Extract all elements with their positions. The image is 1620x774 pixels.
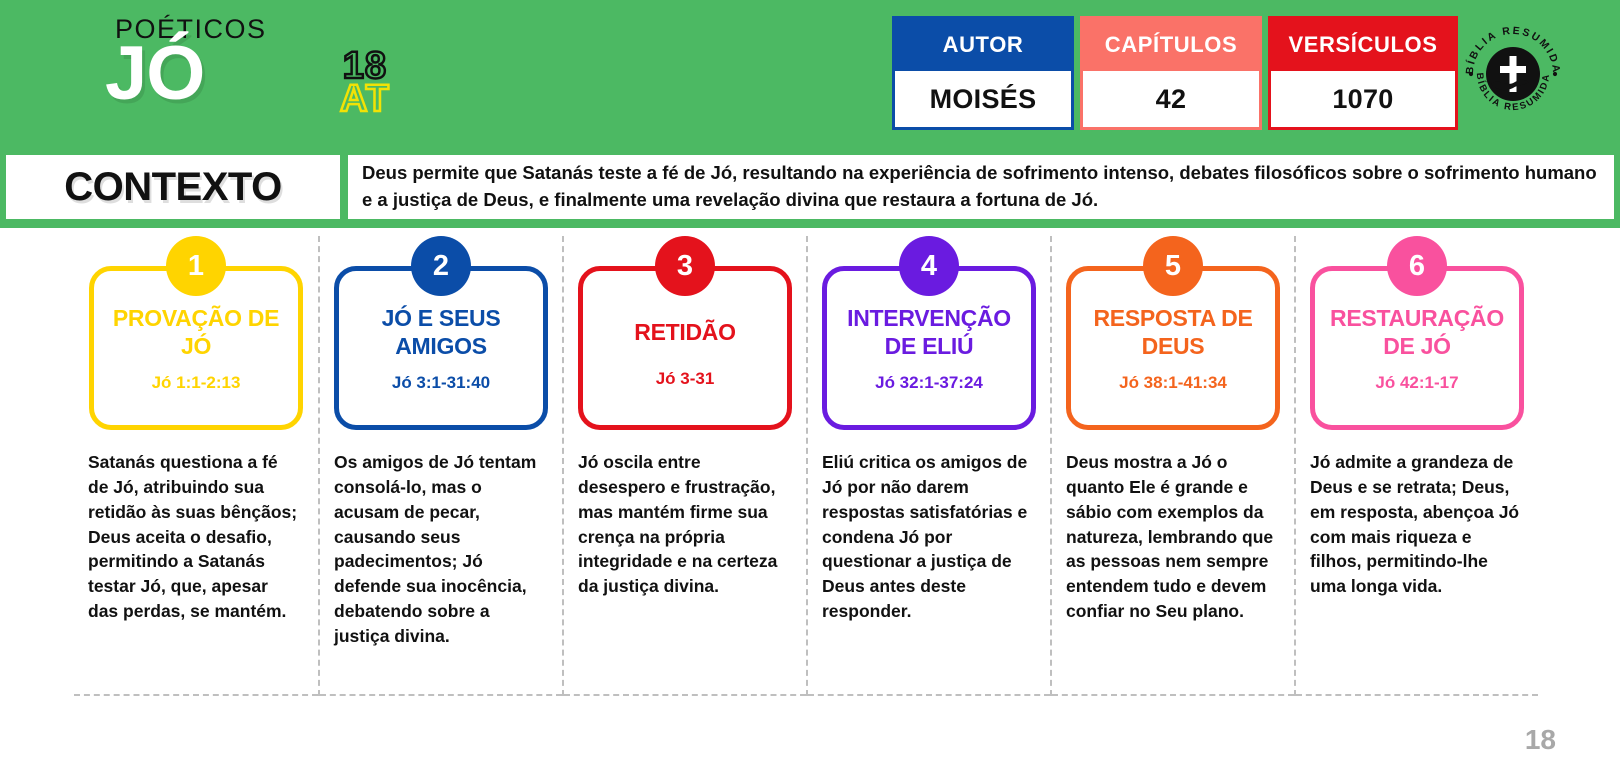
stat-autor-value: MOISÉS [895,71,1071,127]
column-bottom-divider [74,694,318,696]
sections-row: 1 PROVAÇÃO DE JÓ Jó 1:1-2:13 Satanás que… [74,236,1546,696]
section-reference-2: Jó 3:1-31:40 [392,373,490,393]
section-card-zone-5: 5 RESPOSTA DE DEUS Jó 38:1-41:34 [1052,236,1294,436]
stat-capitulos: CAPÍTULOS 42 [1080,16,1262,130]
stat-capitulos-value: 42 [1083,71,1259,127]
section-title-4: INTERVENÇÃO DE ELIÚ [831,305,1027,360]
section-column-5: 5 RESPOSTA DE DEUS Jó 38:1-41:34 Deus mo… [1050,236,1294,696]
stat-autor: AUTOR MOISÉS [892,16,1074,130]
column-bottom-divider [1296,694,1538,696]
context-label: CONTEXTO [64,165,282,210]
book-number-stack: 18 AT [340,50,390,117]
section-card-zone-2: 2 JÓ E SEUS AMIGOS Jó 3:1-31:40 [320,236,562,436]
section-reference-1: Jó 1:1-2:13 [152,373,241,393]
section-title-1: PROVAÇÃO DE JÓ [98,305,294,360]
column-bottom-divider [1052,694,1294,696]
section-column-1: 1 PROVAÇÃO DE JÓ Jó 1:1-2:13 Satanás que… [74,236,318,696]
book-title-block: POÉTICOS JÓ 18 AT [85,6,505,141]
column-bottom-divider [320,694,562,696]
section-column-4: 4 INTERVENÇÃO DE ELIÚ Jó 32:1-37:24 Eliú… [806,236,1050,696]
page-number: 18 [1525,724,1556,756]
section-description-6: Jó admite a grandeza de Deus e se retrat… [1296,436,1538,599]
section-badge-3[interactable]: 3 [655,236,715,296]
stat-versiculos-label: VERSÍCULOS [1271,19,1455,71]
context-label-box: CONTEXTO [6,155,340,219]
section-badge-5[interactable]: 5 [1143,236,1203,296]
context-text: Deus permite que Satanás teste a fé de J… [362,160,1600,214]
section-reference-5: Jó 38:1-41:34 [1119,373,1227,393]
section-card-zone-6: 6 RESTAURAÇÃO DE JÓ Jó 42:1-17 [1296,236,1538,436]
testament-label: AT [340,83,390,116]
column-bottom-divider [564,694,806,696]
stats-group: AUTOR MOISÉS CAPÍTULOS 42 VERSÍCULOS 107… [892,16,1458,130]
section-column-6: 6 RESTAURAÇÃO DE JÓ Jó 42:1-17 Jó admite… [1294,236,1538,696]
stat-versiculos-value: 1070 [1271,71,1455,127]
section-reference-3: Jó 3-31 [656,369,715,389]
section-card-zone-4: 4 INTERVENÇÃO DE ELIÚ Jó 32:1-37:24 [808,236,1050,436]
header-banner: POÉTICOS JÓ 18 AT AUTOR MOISÉS CAPÍTULOS… [0,0,1620,146]
section-description-4: Eliú critica os amigos de Jó por não dar… [808,436,1050,624]
context-text-box: Deus permite que Satanás teste a fé de J… [348,155,1614,219]
section-column-2: 2 JÓ E SEUS AMIGOS Jó 3:1-31:40 Os amigo… [318,236,562,696]
section-reference-6: Jó 42:1-17 [1375,373,1458,393]
section-badge-4[interactable]: 4 [899,236,959,296]
section-reference-4: Jó 32:1-37:24 [875,373,983,393]
section-description-1: Satanás questiona a fé de Jó, atribuindo… [74,436,318,624]
section-description-5: Deus mostra a Jó o quanto Ele é grande e… [1052,436,1294,624]
section-badge-6[interactable]: 6 [1387,236,1447,296]
biblia-resumida-logo: BÍBLIA RESUMIDA BÍBLIA RESUMIDA [1461,22,1565,126]
stat-capitulos-label: CAPÍTULOS [1083,19,1259,71]
stat-versiculos: VERSÍCULOS 1070 [1268,16,1458,130]
section-badge-2[interactable]: 2 [411,236,471,296]
section-card-zone-3: 3 RETIDÃO Jó 3-31 [564,236,806,436]
section-title-3: RETIDÃO [634,319,735,347]
section-card-zone-1: 1 PROVAÇÃO DE JÓ Jó 1:1-2:13 [74,236,318,436]
section-badge-1[interactable]: 1 [166,236,226,296]
section-description-2: Os amigos de Jó tentam consolá-lo, mas o… [320,436,562,649]
column-bottom-divider [808,694,1050,696]
stat-autor-label: AUTOR [895,19,1071,71]
section-title-2: JÓ E SEUS AMIGOS [343,305,539,360]
section-title-5: RESPOSTA DE DEUS [1075,305,1271,360]
section-column-3: 3 RETIDÃO Jó 3-31 Jó oscila entre desesp… [562,236,806,696]
book-name: JÓ [105,36,204,112]
section-title-6: RESTAURAÇÃO DE JÓ [1319,305,1515,360]
section-description-3: Jó oscila entre desespero e frustração, … [564,436,806,599]
